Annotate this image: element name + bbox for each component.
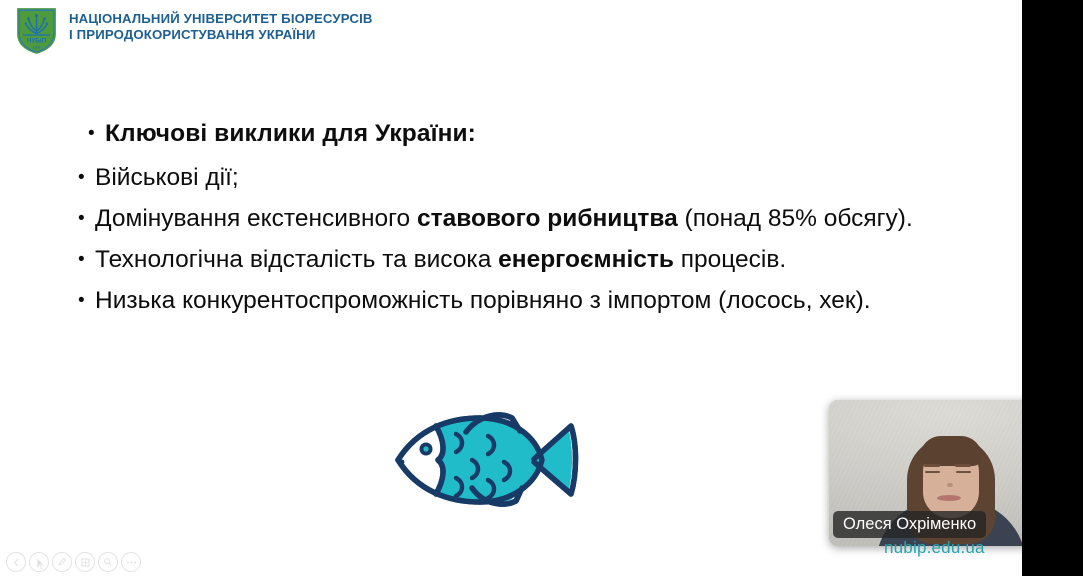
presenter-eyebrow-left xyxy=(924,464,940,467)
bullet-item-text: Технологічна відсталість та висока енерг… xyxy=(95,244,958,275)
more-options-button[interactable] xyxy=(121,552,141,572)
bullet-item-text: Військові дії; xyxy=(95,162,958,193)
bullet-item-text: Низька конкурентоспроможність порівняно … xyxy=(95,285,958,316)
slide-bullet-list: •Ключові виклики для України:•Військові … xyxy=(78,118,958,326)
bullet-marker-icon: • xyxy=(78,162,95,193)
bullet-plain: Низька конкурентоспроможність порівняно … xyxy=(95,287,871,314)
presenter-hair-front xyxy=(920,436,982,466)
presenter-video-tile[interactable]: Олеся Охріменко xyxy=(829,400,1022,546)
university-title-line-2: І ПРИРОДОКОРИСТУВАННЯ УКРАЇНИ xyxy=(69,27,373,43)
presentation-playback-toolbar[interactable] xyxy=(6,552,141,572)
zoom-button[interactable] xyxy=(98,552,118,572)
bullet-item-text: Домінування екстенсивного ставового рибн… xyxy=(95,203,958,234)
bullet-item-low-competitiveness: •Низька конкурентоспроможність порівняно… xyxy=(78,285,958,316)
bullet-emphasis: енергоємність xyxy=(498,246,674,273)
university-title: НАЦІОНАЛЬНИЙ УНІВЕРСИТЕТ БІОРЕСУРСІВ І П… xyxy=(69,4,373,43)
presenter-eye-left xyxy=(925,471,940,473)
bullet-item-key-challenges: •Ключові виклики для України: xyxy=(88,118,958,149)
bullet-marker-icon: • xyxy=(88,118,105,149)
presenter-name-label: Олеся Охріменко xyxy=(833,511,986,538)
slide-canvas[interactable]: НУБіП 1898 НАЦІОНАЛЬНИЙ УНІВЕРСИТЕТ БІОР… xyxy=(0,0,1022,576)
bullet-marker-icon: • xyxy=(78,244,95,275)
bullet-plain: (понад 85% обсягу). xyxy=(678,205,913,232)
fish-illustration-icon xyxy=(388,404,588,514)
bullet-emphasis: ставового рибництва xyxy=(417,205,678,232)
bullet-item-text: Ключові виклики для України: xyxy=(105,118,958,149)
mouse-cursor xyxy=(36,557,46,572)
nubip-shield-logo-icon: НУБіП 1898 xyxy=(13,4,60,57)
site-url-text: nubip.edu.ua xyxy=(884,537,985,558)
bullet-marker-icon: • xyxy=(78,203,95,234)
presenter-eye-right xyxy=(956,471,971,473)
presenter-nose xyxy=(947,483,953,487)
university-branding: НУБіП 1898 НАЦІОНАЛЬНИЙ УНІВЕРСИТЕТ БІОР… xyxy=(13,4,373,57)
bullet-plain: Військові дії; xyxy=(95,164,239,191)
presentation-screen: НУБіП 1898 НАЦІОНАЛЬНИЙ УНІВЕРСИТЕТ БІОР… xyxy=(0,0,1083,576)
previous-slide-button[interactable] xyxy=(6,552,26,572)
pen-annotation-button[interactable] xyxy=(52,552,72,572)
bullet-item-military-actions: •Військові дії; xyxy=(78,162,958,193)
svg-text:НУБіП: НУБіП xyxy=(27,37,47,45)
university-title-line-1: НАЦІОНАЛЬНИЙ УНІВЕРСИТЕТ БІОРЕСУРСІВ xyxy=(69,11,373,27)
bullet-emphasis: Ключові виклики для України: xyxy=(105,120,476,147)
bullet-plain: процесів. xyxy=(674,246,786,273)
bullet-marker-icon: • xyxy=(78,285,95,316)
bullet-item-technological-lag: •Технологічна відсталість та висока енер… xyxy=(78,244,958,275)
presenter-mouth xyxy=(937,495,961,501)
all-slides-button[interactable] xyxy=(75,552,95,572)
bullet-item-pond-farming-dominance: •Домінування екстенсивного ставового риб… xyxy=(78,203,958,234)
bullet-plain: Технологічна відсталість та висока xyxy=(95,246,498,273)
bullet-plain: Домінування екстенсивного xyxy=(95,205,417,232)
svg-text:1898: 1898 xyxy=(33,45,41,49)
presenter-eyebrow-right xyxy=(955,464,971,467)
